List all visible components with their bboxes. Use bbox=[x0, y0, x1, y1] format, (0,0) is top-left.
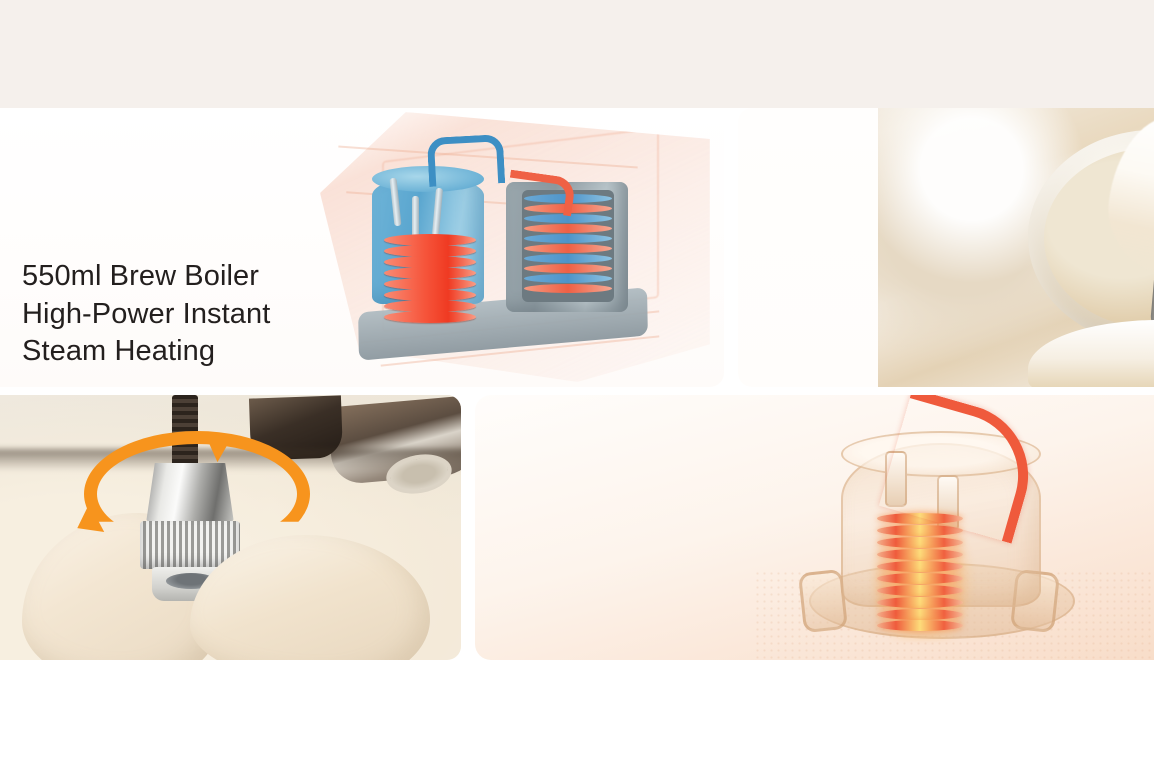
cup-edge bbox=[1028, 320, 1154, 387]
feature-card-adjustable-opv[interactable]: Adjustable Dual-Mode OPV bbox=[0, 395, 461, 660]
group-head-heating-coil bbox=[877, 513, 963, 631]
milk-frothing-photo bbox=[878, 108, 1154, 387]
brew-boiler-illustration bbox=[300, 108, 724, 387]
feature-card-preset-temperature[interactable]: Preset Temperature, Hands-Free Convenien… bbox=[738, 108, 1154, 387]
opv-adjustment-photo bbox=[0, 395, 461, 660]
feature-card-group-head[interactable]: Complex Group Head bbox=[475, 395, 1154, 660]
product-feature-grid: 550ml Brew Boiler High-Power Instant Ste… bbox=[0, 0, 1154, 758]
brew-boiler-handle bbox=[427, 134, 505, 187]
feature-caption-brew-boiler: 550ml Brew Boiler High-Power Instant Ste… bbox=[22, 258, 270, 371]
feature-card-brew-boiler[interactable]: 550ml Brew Boiler High-Power Instant Ste… bbox=[0, 108, 724, 387]
brew-boiler-heating-coil bbox=[384, 234, 476, 326]
group-head-illustration bbox=[765, 395, 1154, 660]
top-banner-strip bbox=[0, 0, 1154, 108]
